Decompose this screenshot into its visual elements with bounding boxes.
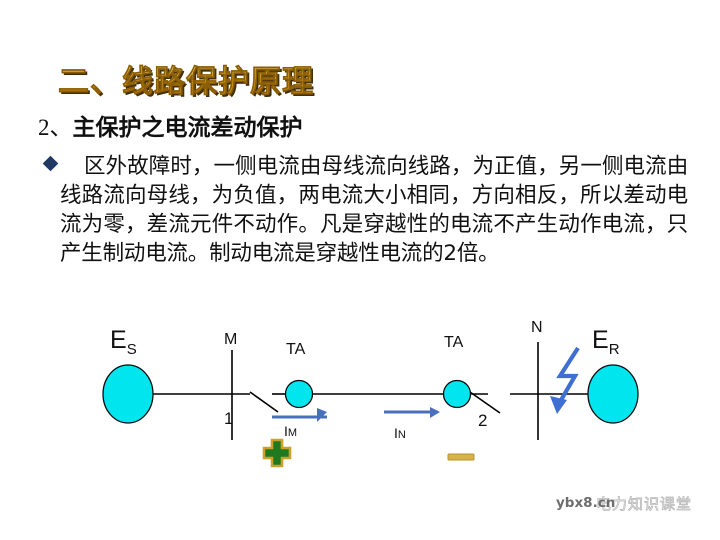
current-differential-protection-diagram: ES ER M N TA TA 1 2 IM IN (0, 300, 720, 500)
ct-circle-right (444, 381, 471, 408)
label-source-right: ER (592, 326, 620, 358)
label-source-left: ES (110, 326, 137, 358)
section-subtitle-text: 主保护之电流差动保护 (73, 115, 303, 141)
breaker-1-blade (250, 392, 278, 412)
breaker-2-blade (470, 392, 500, 413)
polarity-plus-icon (264, 440, 290, 466)
bullet-paragraph-row: 区外故障时，一侧电流由母线流向线路，为正值，另一侧电流由线路流向母线，为负值，两… (40, 152, 692, 268)
page-title: 二、线路保护原理 二、线路保护原理 (58, 62, 458, 104)
fault-bolt-arrowhead (550, 396, 567, 414)
section-subtitle: 2、主保护之电流差动保护 (38, 108, 303, 142)
label-current-IM: IM (284, 423, 297, 439)
polarity-minus-icon (448, 454, 474, 460)
diamond-bullet-icon (40, 158, 60, 169)
label-ct-right: TA (444, 334, 464, 351)
body-paragraph: 区外故障时，一侧电流由母线流向线路，为正值，另一侧电流由线路流向母线，为负值，两… (60, 152, 688, 268)
label-ct-left: TA (286, 341, 306, 358)
fault-lightning-bolt-icon (557, 348, 578, 407)
watermark: 电力知识课堂 ybx8.cn (556, 492, 716, 518)
watermark-url: ybx8.cn (556, 495, 615, 511)
diamond-shape (42, 156, 58, 172)
section-subtitle-number: 2、 (38, 115, 73, 140)
ct-circle-left (286, 381, 313, 408)
label-breaker-1: 1 (224, 409, 233, 428)
label-busbar-N: N (531, 319, 543, 336)
source-ellipse-right (588, 365, 638, 423)
page-title-text: 二、线路保护原理 (58, 62, 314, 102)
slide-canvas: 二、线路保护原理 二、线路保护原理 2、主保护之电流差动保护 区外故障时，一侧电… (0, 0, 720, 540)
current-arrow-IN (384, 407, 440, 418)
label-busbar-M: M (224, 331, 237, 348)
current-arrow-IM (272, 408, 327, 422)
label-current-IN: IN (394, 425, 406, 441)
label-breaker-2: 2 (478, 411, 487, 430)
source-ellipse-left (103, 365, 153, 423)
